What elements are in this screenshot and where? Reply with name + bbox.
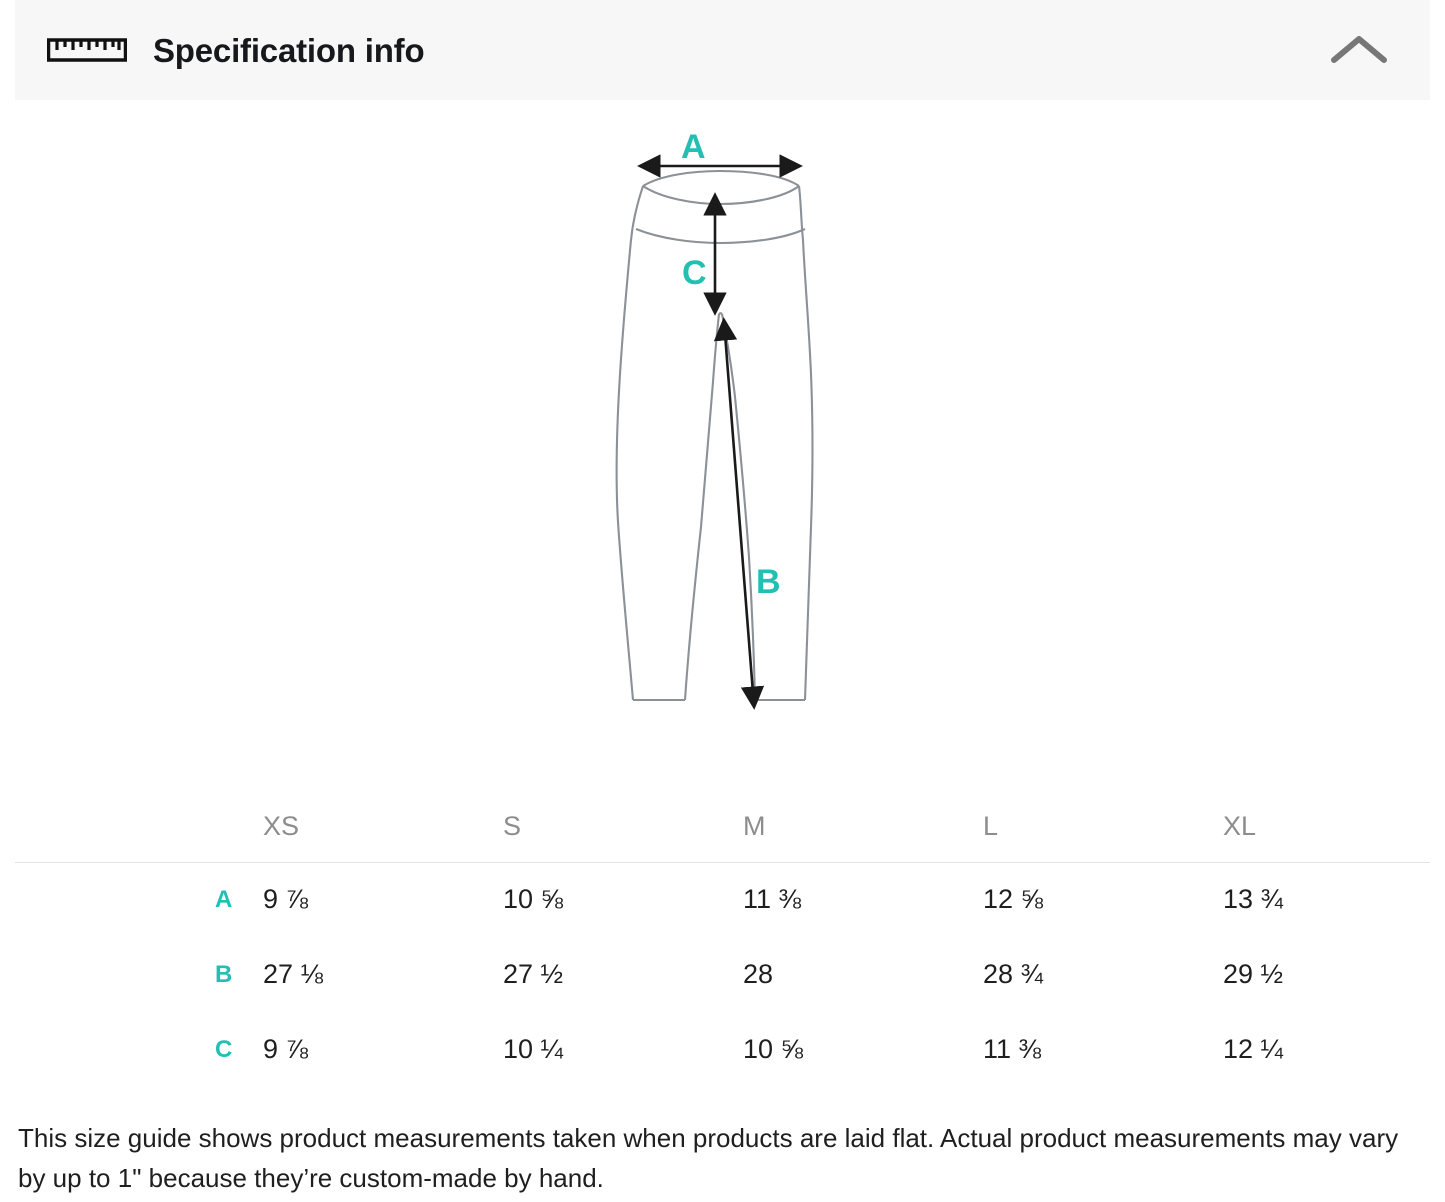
ruler-icon — [47, 35, 127, 65]
diagram-label-b: B — [756, 563, 781, 601]
size-chart-table: XS S M L XL A 9 ⅞ 10 ⅝ 11 ⅜ 12 ⅝ 13 ¾ B … — [0, 790, 1445, 1087]
cell-a-m: 11 ⅜ — [743, 886, 983, 913]
leggings-measurement-diagram: A C B — [0, 100, 1445, 780]
column-header-l: L — [983, 813, 1223, 840]
table-header-row: XS S M L XL — [0, 790, 1445, 862]
cell-b-xs: 27 ⅛ — [263, 961, 503, 988]
table-row: A 9 ⅞ 10 ⅝ 11 ⅜ 12 ⅝ 13 ¾ — [0, 862, 1445, 937]
table-row: C 9 ⅞ 10 ¼ 10 ⅝ 11 ⅜ 12 ¼ — [0, 1012, 1445, 1087]
row-label-b: B — [215, 963, 263, 987]
table-header-divider — [15, 862, 1430, 863]
chevron-up-icon[interactable] — [1326, 27, 1392, 73]
cell-b-s: 27 ½ — [503, 961, 743, 988]
cell-a-s: 10 ⅝ — [503, 886, 743, 913]
column-header-xl: XL — [1223, 813, 1445, 840]
cell-b-l: 28 ¾ — [983, 961, 1223, 988]
leggings-technical-drawing: A C B — [593, 132, 853, 752]
diagram-label-c: C — [682, 254, 707, 292]
size-guide-footnote: This size guide shows product measuremen… — [18, 1118, 1430, 1199]
cell-c-xs: 9 ⅞ — [263, 1036, 503, 1063]
row-label-c: C — [215, 1038, 263, 1062]
cell-c-l: 11 ⅜ — [983, 1036, 1223, 1063]
cell-c-m: 10 ⅝ — [743, 1036, 983, 1063]
cell-a-xs: 9 ⅞ — [263, 886, 503, 913]
specification-info-header[interactable]: Specification info — [15, 0, 1430, 100]
measurement-arrow-b — [724, 321, 754, 706]
diagram-label-a: A — [681, 132, 706, 166]
cell-b-xl: 29 ½ — [1223, 961, 1445, 988]
page-title: Specification info — [153, 34, 1326, 67]
column-header-xs: XS — [263, 813, 503, 840]
column-header-m: M — [743, 813, 983, 840]
cell-b-m: 28 — [743, 961, 983, 988]
cell-c-s: 10 ¼ — [503, 1036, 743, 1063]
cell-a-xl: 13 ¾ — [1223, 886, 1445, 913]
cell-c-xl: 12 ¼ — [1223, 1036, 1445, 1063]
column-header-s: S — [503, 813, 743, 840]
row-label-a: A — [215, 888, 263, 912]
table-row: B 27 ⅛ 27 ½ 28 28 ¾ 29 ½ — [0, 937, 1445, 1012]
cell-a-l: 12 ⅝ — [983, 886, 1223, 913]
